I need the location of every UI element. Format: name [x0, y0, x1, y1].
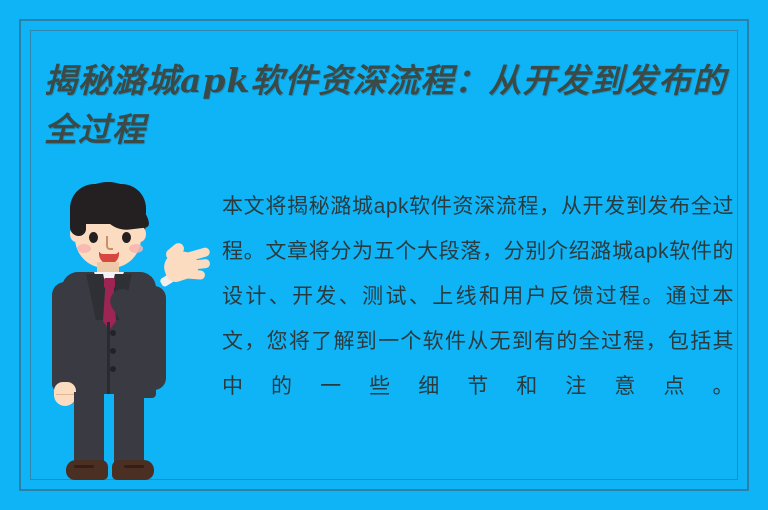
shoe-right-detail — [124, 465, 144, 468]
finger-2-shape — [185, 259, 211, 271]
eye-left-shape — [89, 232, 98, 243]
cheek-right-shape — [129, 244, 143, 253]
finger-3-shape — [183, 269, 206, 280]
jacket-button-2 — [110, 348, 116, 354]
page-title: 揭秘潞城apk软件资深流程：从开发到发布的全过程 — [44, 56, 734, 154]
upper-lip-shape — [99, 250, 119, 254]
article-summary-text: 本文将揭秘潞城apk软件资深流程，从开发到发布全过程。文章将分为五个大段落，分别… — [222, 184, 734, 454]
leg-right-shape — [114, 392, 144, 466]
leg-gap-shape — [104, 394, 114, 466]
businessman-illustration — [44, 182, 216, 482]
shoe-left-shape — [66, 460, 108, 480]
shoe-right-shape — [112, 460, 154, 480]
nose-shape — [106, 236, 113, 250]
jacket-button-3 — [110, 366, 116, 372]
shoe-left-detail — [74, 465, 94, 468]
eye-right-shape — [122, 232, 131, 243]
jacket-button-1 — [110, 330, 116, 336]
hand-left-crease — [56, 394, 74, 395]
hair-side-shape — [70, 202, 86, 236]
cheek-left-shape — [77, 244, 91, 253]
article-card: 揭秘潞城apk软件资深流程：从开发到发布的全过程 本文将揭秘潞城apk软件资深流… — [0, 0, 768, 510]
leg-left-shape — [74, 392, 104, 466]
